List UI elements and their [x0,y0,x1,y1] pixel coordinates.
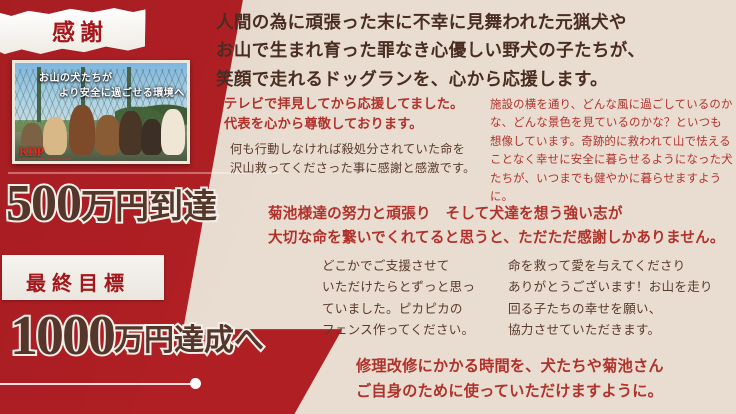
campaign-poster: 感謝 お山の犬たちが より安全に過ごせる環境へ KDP KANNABI DOG … [0,0,736,414]
achieved-amount-unit: 万円到達 [81,189,217,226]
goal-amount: 1000万円達成へ [10,308,264,364]
supporter-message-g: 修理改修にかかる時間を、犬たちや菊池さんご自身のために使っていただけますように。 [356,355,736,404]
supporter-message-e: どこかでご支援させていただけたらとずっと思っていました。ピカピカのフェンス作って… [322,256,514,342]
supporter-message-f: 命を救って愛を与えてくださりありがとうございます！お山を走り回る子たちの幸せを願… [508,256,734,342]
supporter-message-c: 施設の横を通り、どんな風に過ごしているのかな、どんな景色を見ているのかな？といつ… [490,96,733,207]
thumbnail-dog [95,115,121,155]
thumbnail-caption-line1: お山の犬たちが [39,69,113,84]
thumbnail-caption-line2: より安全に過ごせる環境へ [59,84,185,99]
thumbnail-dog [43,117,67,155]
thumbnail-dog [161,109,185,155]
thumbnail-dog [119,111,143,155]
headline-text: 人間の為に頑張った末に不幸に見舞われた元猟犬やお山で生まれ育った罪なき心優しい野… [216,8,726,93]
supporter-message-a: テレビで拝見してから応援してました。代表を心から尊敬しております。 [224,94,486,135]
supporter-message-d: 菊池様達の努力と頑張り そして犬達を想う強い志が大切な命を繋いでくれてると思うと… [268,203,736,250]
campaign-thumbnail-photo: お山の犬たちが より安全に過ごせる環境へ KDP KANNABI DOG PRO… [12,60,190,164]
thumbnail-dog [69,105,95,155]
goal-amount-number: 1000 [10,305,114,367]
achieved-amount: 500万円到達 [6,178,217,230]
kdp-logo-subtitle: KANNABI DOG PROTECTION [19,157,72,161]
thumbnail-dog [141,119,163,155]
achieved-amount-number: 500 [6,175,81,232]
thanks-label: 感謝 [52,13,108,47]
bottom-accent-rule [0,383,190,385]
goal-amount-unit: 万円達成へ [114,324,264,357]
bottom-accent-dot [190,378,201,389]
final-goal-label: 最終目標 [26,267,130,296]
supporter-message-b: 何も行動しなければ殺処分されていた命を沢山救ってくださった事に感謝と感激です。 [230,140,488,179]
